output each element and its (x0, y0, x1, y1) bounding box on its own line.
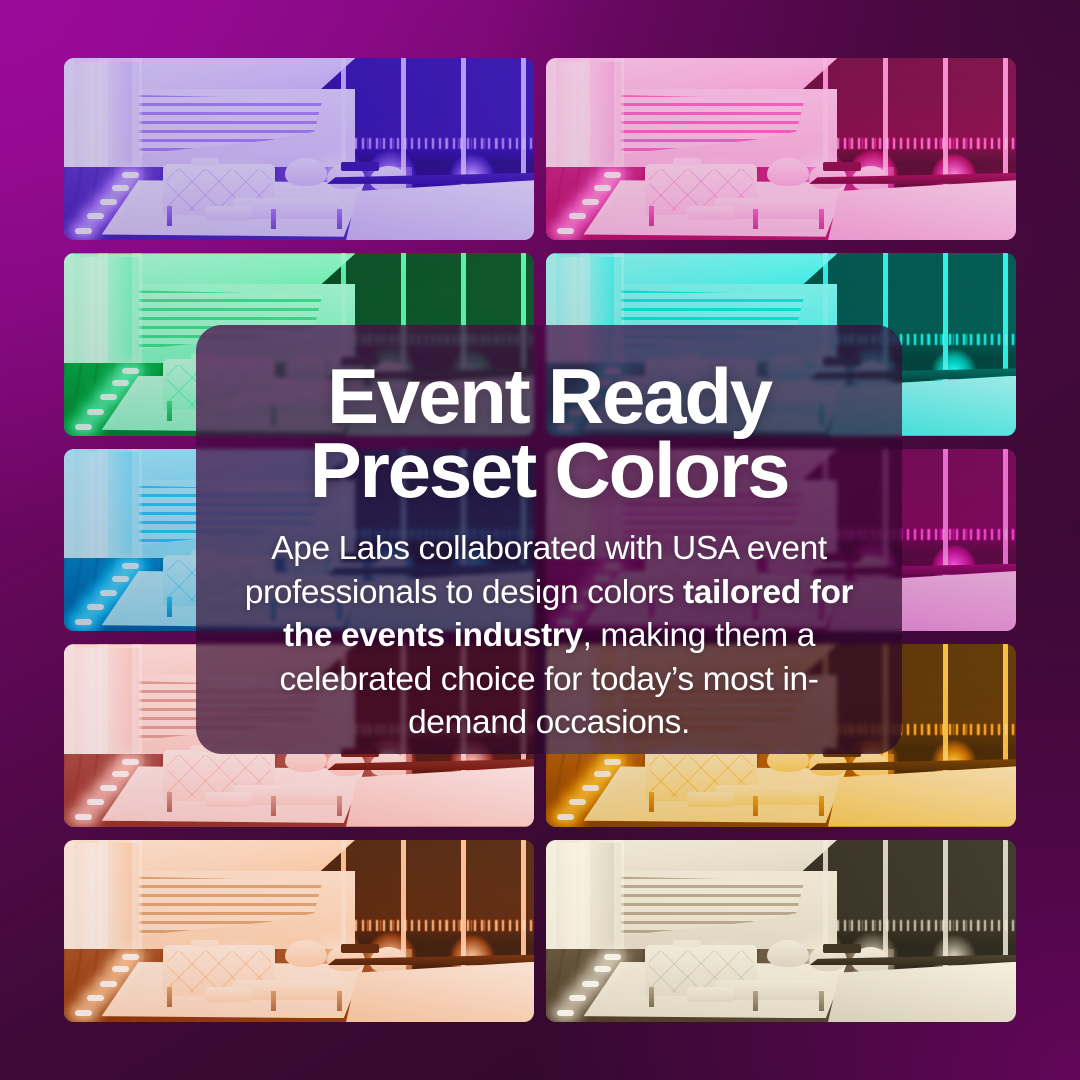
page-title: Event Ready Preset Colors (232, 359, 866, 507)
headline-overlay-card: Event Ready Preset Colors Ape Labs colla… (196, 325, 902, 754)
body-copy: Ape Labs collaborated with USA event pro… (232, 527, 866, 745)
preset-tile-peach-warm[interactable] (64, 840, 534, 1022)
preset-tile-warm-white[interactable] (546, 840, 1016, 1022)
preset-tile-hot-pink[interactable] (546, 58, 1016, 240)
preset-tile-lavender[interactable] (64, 58, 534, 240)
poster-canvas: Event Ready Preset Colors Ape Labs colla… (0, 0, 1080, 1080)
